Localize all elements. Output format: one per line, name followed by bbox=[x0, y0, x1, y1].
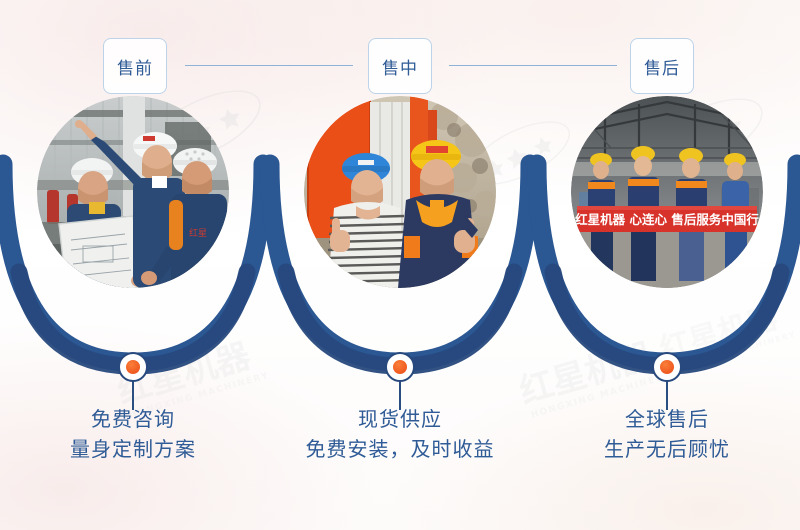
caption-line-1: 全球售后 bbox=[534, 404, 800, 434]
step-caption-after-sale: 全球售后 生产无后顾忧 bbox=[534, 404, 800, 464]
banner-text: 红星机器 心连心 售后服务中国行 bbox=[575, 212, 759, 227]
caption-line-2: 免费安装，及时收益 bbox=[267, 434, 533, 464]
step-chip-label: 售中 bbox=[382, 54, 418, 79]
step-label-row: 售前 售中 售后 bbox=[0, 38, 800, 96]
caption-line-1: 免费咨询 bbox=[0, 404, 266, 434]
caption-line-1: 现货供应 bbox=[267, 404, 533, 434]
step-caption-in-sale: 现货供应 免费安装，及时收益 bbox=[267, 404, 533, 464]
step-marker-dot bbox=[118, 352, 148, 382]
step-caption-pre-sale: 免费咨询 量身定制方案 bbox=[0, 404, 266, 464]
step-chip-pre-sale[interactable]: 售前 bbox=[103, 38, 167, 94]
step-column-in-sale: 现货供应 免费安装，及时收益 bbox=[267, 96, 533, 530]
step-chip-in-sale[interactable]: 售中 bbox=[368, 38, 432, 94]
service-process-infographic: HONGXING 红星机器 HONGXING MACHINERY 红星机器 bbox=[0, 0, 800, 530]
svg-text:红星: 红星 bbox=[189, 227, 207, 239]
step-marker-dot bbox=[385, 352, 415, 382]
step-chip-label: 售前 bbox=[117, 54, 153, 79]
step-connector-line-2 bbox=[449, 65, 617, 66]
dot-core-icon bbox=[126, 360, 140, 374]
caption-line-2: 量身定制方案 bbox=[0, 434, 266, 464]
step-column-pre-sale: 红星 免费咨询 量身定制方案 bbox=[0, 96, 266, 530]
step-column-after-sale: 红星机器 心连心 售后服务中国行 全球售后 生产无后顾忧 bbox=[534, 96, 800, 530]
step-marker-dot bbox=[652, 352, 682, 382]
step-connector-line-1 bbox=[185, 65, 353, 66]
photo-illustration bbox=[304, 96, 496, 288]
photo-illustration: 红星机器 心连心 售后服务中国行 bbox=[571, 96, 763, 288]
step-chip-label: 售后 bbox=[644, 54, 680, 79]
photo-illustration: 红星 bbox=[37, 96, 229, 288]
dot-core-icon bbox=[393, 360, 407, 374]
dot-core-icon bbox=[660, 360, 674, 374]
step-photo-pre-sale: 红星 bbox=[37, 96, 229, 288]
caption-line-2: 生产无后顾忧 bbox=[534, 434, 800, 464]
step-photo-after-sale: 红星机器 心连心 售后服务中国行 bbox=[571, 96, 763, 288]
step-photo-in-sale bbox=[304, 96, 496, 288]
step-chip-after-sale[interactable]: 售后 bbox=[630, 38, 694, 94]
